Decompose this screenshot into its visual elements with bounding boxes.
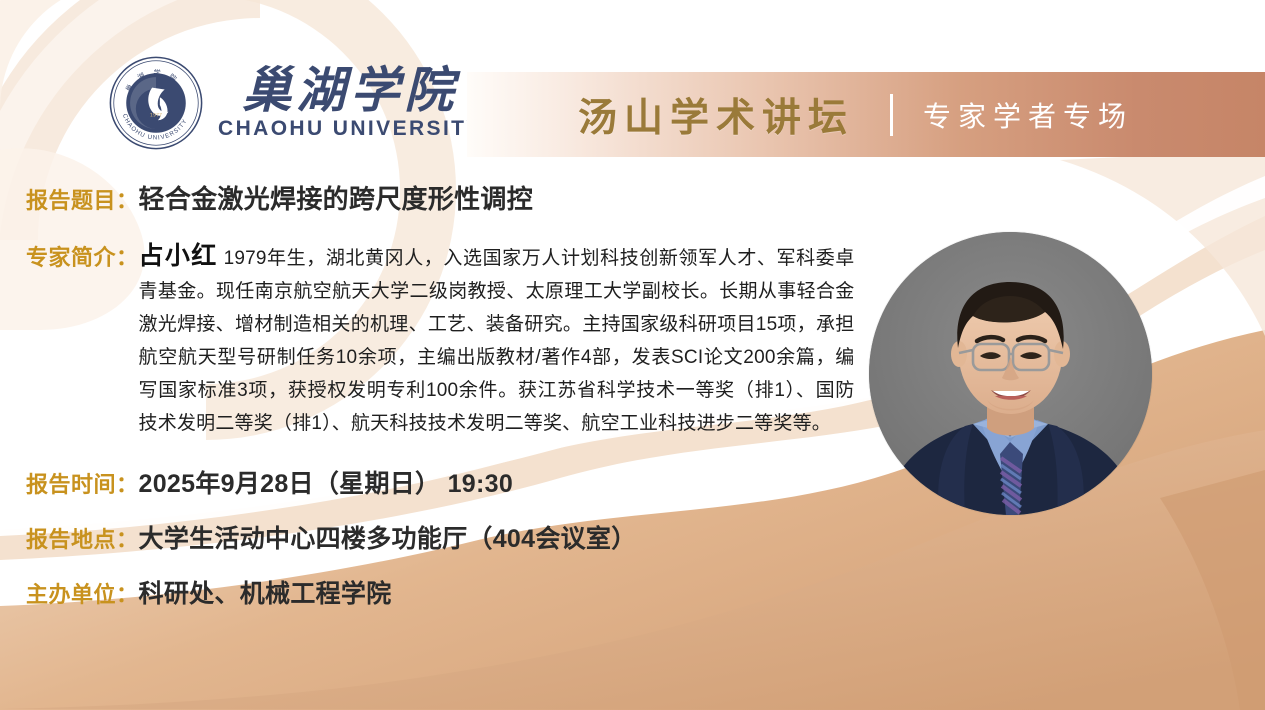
university-name-en: CHAOHU UNIVERSITY — [218, 117, 483, 141]
lecture-place-row: 报告地点： 大学生活动中心四楼多功能厅（404会议室） — [26, 519, 637, 555]
banner-divider — [890, 94, 893, 136]
header-banner: 汤山学术讲坛 专家学者专场 — [467, 72, 1265, 157]
lecture-title-label: 报告题目： — [26, 183, 139, 215]
speaker-bio-row: 专家简介： 占小红 1979年生，湖北黄冈人，入选国家万人计划科技创新领军人才、… — [26, 240, 855, 440]
lecture-host-label: 主办单位： — [26, 577, 139, 609]
lecture-host-value: 科研处、机械工程学院 — [139, 574, 392, 610]
lecture-time-row: 报告时间： 2025年9月28日（星期日） 19:30 — [26, 464, 513, 500]
speaker-bio-body: 1979年生，湖北黄冈人，入选国家万人计划科技创新领军人才、军科委卓青基金。现任… — [139, 248, 855, 434]
lecture-place-value: 大学生活动中心四楼多功能厅（404会议室） — [139, 519, 637, 555]
lecture-title-row: 报告题目： 轻合金激光焊接的跨尺度形性调控 — [26, 179, 533, 216]
speaker-bio-text: 占小红 1979年生，湖北黄冈人，入选国家万人计划科技创新领军人才、军科委卓青基… — [139, 240, 855, 440]
lecture-time-value: 2025年9月28日（星期日） 19:30 — [139, 464, 514, 500]
poster-canvas: 1977 巢 湖 学 院 CHAOHU UNIVERSITY 巢湖学院 CHAO… — [0, 0, 1265, 710]
university-logo: 1977 巢 湖 学 院 CHAOHU UNIVERSITY 巢湖学院 CHAO… — [108, 55, 483, 151]
lecture-place-label: 报告地点： — [26, 522, 139, 554]
lecture-host-row: 主办单位： 科研处、机械工程学院 — [26, 574, 392, 610]
university-name-cn: 巢湖学院 — [242, 65, 458, 116]
lecture-time-label: 报告时间： — [26, 467, 139, 499]
speaker-portrait-image — [869, 232, 1152, 515]
lecture-title-value: 轻合金激光焊接的跨尺度形性调控 — [139, 179, 534, 216]
university-seal-icon: 1977 巢 湖 学 院 CHAOHU UNIVERSITY — [108, 55, 204, 151]
banner-sub-title: 专家学者专场 — [923, 95, 1133, 135]
speaker-bio-label: 专家简介： — [26, 240, 139, 272]
speaker-name: 占小红 — [139, 242, 218, 270]
svg-text:1977: 1977 — [150, 112, 162, 118]
speaker-portrait — [869, 232, 1152, 515]
banner-main-title: 汤山学术讲坛 — [578, 87, 854, 143]
